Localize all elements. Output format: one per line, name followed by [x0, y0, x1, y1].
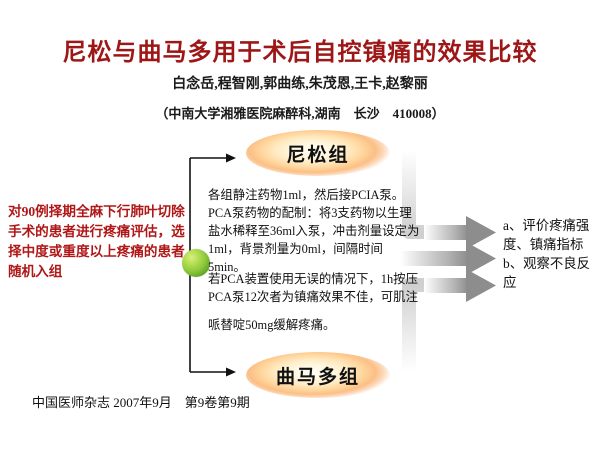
group-oval-tramadol[interactable]: 曲马多组 — [246, 352, 390, 398]
outcome-item-b: b、观察不良反应 — [503, 254, 595, 292]
green-sphere-icon — [182, 249, 210, 277]
slide-canvas: 尼松与曲马多用于术后自控镇痛的效果比较 白念岳,程智刚,郭曲练,朱茂恩,王卡,赵… — [0, 0, 600, 450]
method-paragraph-rescue: 若PCA装置使用无误的情况下，1h按压PCA泵12次者为镇痛效果不佳，可肌注 — [208, 270, 420, 306]
page-title: 尼松与曲马多用于术后自控镇痛的效果比较 — [0, 32, 600, 67]
method-paragraph-rescue-drug: 哌替啶50mg缓解疼痛。 — [208, 316, 420, 334]
group-oval-nisong-label: 尼松组 — [286, 140, 349, 167]
arrow-right-icon-3 — [424, 269, 496, 302]
method-paragraph-dosing: 各组静注药物1ml，然后接PCIA泵。PCA泵药物的配制：将3支药物以生理盐水稀… — [208, 186, 420, 276]
outcome-item-a: a、评价疼痛强度、镇痛指标 — [503, 216, 595, 254]
affiliation-line: （中南大学湘雅医院麻醉科,湖南 长沙 410008） — [0, 103, 600, 122]
arrow-right-icon-1 — [424, 216, 496, 249]
outcome-measures: a、评价疼痛强度、镇痛指标 b、观察不良反应 — [503, 216, 595, 292]
enrolment-criteria-text: 对90例择期全麻下行肺叶切除手术的患者进行疼痛评估，选择中度或重度以上疼痛的患者… — [8, 202, 186, 282]
author-list: 白念岳,程智刚,郭曲练,朱茂恩,王卡,赵黎丽 — [0, 73, 600, 93]
journal-citation: 中国医师杂志 2007年9月 第9卷第9期 — [32, 392, 250, 411]
group-oval-tramadol-label: 曲马多组 — [276, 362, 360, 389]
group-oval-nisong[interactable]: 尼松组 — [246, 130, 390, 176]
